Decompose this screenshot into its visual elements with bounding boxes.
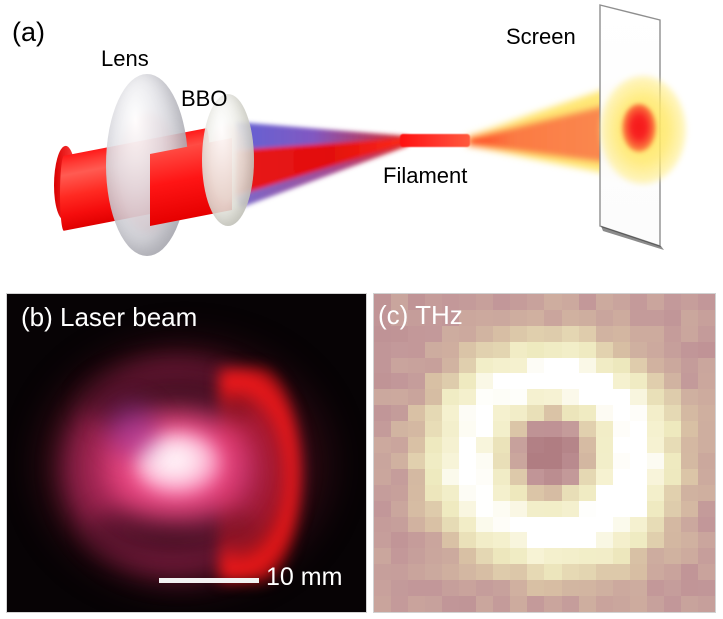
thz-pixel xyxy=(425,485,442,501)
thz-pixel xyxy=(562,564,579,580)
thz-pixel xyxy=(493,469,510,485)
thz-pixel xyxy=(613,469,630,485)
thz-pixel xyxy=(510,564,527,580)
thz-pixel xyxy=(664,453,681,469)
thz-pixel xyxy=(630,405,647,421)
thz-pixel xyxy=(493,485,510,501)
thz-pixel xyxy=(544,358,561,374)
thz-pixel xyxy=(544,453,561,469)
thz-pixel xyxy=(562,326,579,342)
thz-pixel xyxy=(630,532,647,548)
thz-pixel xyxy=(408,342,425,358)
thz-pixel xyxy=(562,358,579,374)
thz-pixel xyxy=(647,389,664,405)
thz-pixel xyxy=(391,532,408,548)
thz-pixel xyxy=(544,469,561,485)
thz-pixel xyxy=(425,421,442,437)
thz-pixel xyxy=(408,517,425,533)
thz-pixel xyxy=(698,485,715,501)
thz-pixel xyxy=(459,517,476,533)
thz-pixel xyxy=(510,517,527,533)
thz-pixel xyxy=(562,596,579,612)
thz-pixel xyxy=(459,437,476,453)
thz-pixel xyxy=(698,517,715,533)
thz-pixel xyxy=(408,373,425,389)
thz-pixel xyxy=(647,437,664,453)
thz-pixel xyxy=(596,517,613,533)
thz-pixel xyxy=(510,310,527,326)
thz-pixel xyxy=(493,389,510,405)
thz-pixel xyxy=(613,389,630,405)
thz-pixel xyxy=(510,437,527,453)
thz-pixel xyxy=(544,548,561,564)
thz-pixel xyxy=(579,421,596,437)
thz-pixel xyxy=(579,469,596,485)
thz-pixel xyxy=(493,437,510,453)
thz-pixel xyxy=(596,326,613,342)
thz-pixel xyxy=(647,453,664,469)
thz-pixel xyxy=(579,389,596,405)
thz-pixel xyxy=(527,453,544,469)
thz-pixel xyxy=(374,532,391,548)
thz-pixel xyxy=(391,373,408,389)
thz-pixel xyxy=(562,373,579,389)
bbo-crystal xyxy=(202,94,254,226)
thz-pixel xyxy=(664,517,681,533)
thz-pixel xyxy=(613,501,630,517)
thz-pixel xyxy=(647,564,664,580)
thz-pixel xyxy=(698,326,715,342)
thz-pixel xyxy=(527,596,544,612)
thz-pixel xyxy=(596,453,613,469)
thz-pixel xyxy=(374,342,391,358)
thz-pixel xyxy=(391,389,408,405)
thz-pixel xyxy=(476,580,493,596)
thz-pixel xyxy=(681,548,698,564)
thz-pixel xyxy=(510,532,527,548)
thz-pixel xyxy=(459,358,476,374)
thz-pixel xyxy=(408,485,425,501)
thz-pixel xyxy=(510,548,527,564)
thz-pixel xyxy=(647,405,664,421)
thz-pixel xyxy=(596,532,613,548)
thz-pixel xyxy=(681,517,698,533)
thz-pixel xyxy=(681,437,698,453)
thz-pixel xyxy=(596,373,613,389)
thz-pixel xyxy=(630,326,647,342)
thz-pixel xyxy=(459,596,476,612)
thz-pixel xyxy=(630,421,647,437)
thz-pixel xyxy=(527,294,544,310)
thz-pixel xyxy=(630,548,647,564)
thz-pixel xyxy=(698,437,715,453)
thz-pixel xyxy=(493,580,510,596)
thz-pixel xyxy=(596,564,613,580)
thz-pixel xyxy=(647,358,664,374)
thz-pixel xyxy=(630,437,647,453)
thz-pixel xyxy=(425,405,442,421)
thz-pixel xyxy=(579,373,596,389)
thz-pixel xyxy=(527,532,544,548)
thz-pixel xyxy=(527,326,544,342)
thz-pixel xyxy=(562,342,579,358)
thz-pixel xyxy=(493,501,510,517)
thz-pixel xyxy=(527,548,544,564)
thz-pixel xyxy=(579,405,596,421)
thz-pixel xyxy=(374,469,391,485)
thz-pixel xyxy=(698,469,715,485)
thz-pixel xyxy=(698,310,715,326)
thz-pixel xyxy=(459,532,476,548)
thz-pixel xyxy=(647,580,664,596)
thz-pixel xyxy=(459,453,476,469)
thz-pixel xyxy=(527,580,544,596)
thz-pixel xyxy=(476,485,493,501)
thz-pixel xyxy=(459,564,476,580)
thz-pixel xyxy=(408,453,425,469)
thz-pixel xyxy=(544,389,561,405)
thz-pixel xyxy=(698,580,715,596)
thz-pixel xyxy=(391,421,408,437)
thz-pixel xyxy=(425,389,442,405)
thz-pixel xyxy=(544,532,561,548)
thz-pixel xyxy=(698,405,715,421)
thz-pixel xyxy=(562,501,579,517)
thz-pixel xyxy=(374,453,391,469)
thz-pixel xyxy=(698,358,715,374)
thz-pixel xyxy=(698,564,715,580)
thz-pixel xyxy=(647,294,664,310)
thz-pixel xyxy=(510,453,527,469)
thz-pixel xyxy=(374,580,391,596)
thz-pixel xyxy=(442,580,459,596)
thz-pixel xyxy=(476,405,493,421)
thz-pixel xyxy=(596,405,613,421)
thz-pixel xyxy=(391,405,408,421)
thz-pixel xyxy=(630,389,647,405)
thz-pixel xyxy=(374,373,391,389)
thz-pixel xyxy=(647,326,664,342)
thz-pixel xyxy=(527,517,544,533)
thz-pixel xyxy=(613,326,630,342)
thz-pixel xyxy=(510,326,527,342)
thz-pixel xyxy=(442,564,459,580)
thz-pixel xyxy=(391,517,408,533)
thz-pixel xyxy=(408,389,425,405)
thz-pixel xyxy=(493,421,510,437)
thz-pixel xyxy=(425,548,442,564)
thz-pixel xyxy=(613,310,630,326)
thz-pixel xyxy=(630,294,647,310)
thz-pixel xyxy=(630,564,647,580)
thz-pixel xyxy=(510,342,527,358)
panel-b-laser-beam: (b) Laser beam 10 mm xyxy=(7,294,366,612)
thz-pixel xyxy=(647,469,664,485)
thz-pixel xyxy=(664,532,681,548)
scale-bar-label: 10 mm xyxy=(266,563,342,592)
thz-pixel xyxy=(596,485,613,501)
thz-pixel xyxy=(630,453,647,469)
thz-pixel xyxy=(510,389,527,405)
thz-pixel xyxy=(408,501,425,517)
thz-pixel xyxy=(613,294,630,310)
thz-pixel xyxy=(374,564,391,580)
thz-pixel xyxy=(596,389,613,405)
thz-pixel xyxy=(442,517,459,533)
thz-pixel xyxy=(681,326,698,342)
thz-pixel xyxy=(391,342,408,358)
filament-line xyxy=(400,134,470,147)
thz-pixel xyxy=(459,469,476,485)
thz-pixel xyxy=(579,532,596,548)
thz-pixel xyxy=(476,517,493,533)
thz-pixel xyxy=(493,326,510,342)
thz-pixel xyxy=(579,294,596,310)
thz-pixel xyxy=(613,342,630,358)
thz-pixel xyxy=(613,437,630,453)
thz-pixel xyxy=(425,437,442,453)
thz-pixel xyxy=(374,421,391,437)
thz-pixel xyxy=(562,421,579,437)
thz-pixel xyxy=(562,389,579,405)
thz-pixel xyxy=(510,580,527,596)
thz-pixel xyxy=(630,310,647,326)
thz-pixel xyxy=(510,373,527,389)
thz-pixel xyxy=(562,294,579,310)
thz-pixel xyxy=(510,405,527,421)
thz-pixel xyxy=(664,548,681,564)
thz-pixel xyxy=(613,580,630,596)
thz-pixel xyxy=(442,596,459,612)
thz-pixel xyxy=(493,373,510,389)
thz-pixel xyxy=(579,596,596,612)
thz-pixel xyxy=(664,596,681,612)
thz-pixel xyxy=(579,358,596,374)
thz-pixel xyxy=(391,580,408,596)
thz-pixel xyxy=(544,580,561,596)
panel-a-schematic: (a) Lens BBO Filament Screen xyxy=(0,0,723,288)
thz-pixel xyxy=(664,405,681,421)
thz-pixel xyxy=(408,358,425,374)
thz-pixel xyxy=(391,485,408,501)
thz-pixel xyxy=(527,389,544,405)
thz-pixel xyxy=(562,405,579,421)
thz-pixel xyxy=(579,501,596,517)
thz-pixel xyxy=(664,421,681,437)
thz-pixel xyxy=(579,564,596,580)
thz-pixel xyxy=(596,580,613,596)
thz-pixel xyxy=(408,469,425,485)
thz-pixel xyxy=(493,358,510,374)
thz-pixel xyxy=(374,405,391,421)
thz-pixel xyxy=(476,437,493,453)
thz-pixel xyxy=(476,310,493,326)
thz-pixel xyxy=(681,373,698,389)
thz-pixel xyxy=(391,358,408,374)
thz-pixel xyxy=(544,310,561,326)
thz-pixel xyxy=(459,373,476,389)
thz-pixel xyxy=(408,548,425,564)
thz-pixel xyxy=(527,437,544,453)
thz-pixel xyxy=(408,532,425,548)
thz-pixel xyxy=(579,310,596,326)
thz-pixel xyxy=(613,373,630,389)
thz-pixel xyxy=(527,373,544,389)
filament-label: Filament xyxy=(383,163,467,189)
thz-pixel-grid xyxy=(374,294,715,612)
thz-pixel xyxy=(544,517,561,533)
thz-pixel xyxy=(647,485,664,501)
thz-pixel xyxy=(476,532,493,548)
thz-pixel xyxy=(579,485,596,501)
thz-pixel xyxy=(613,405,630,421)
thz-pixel xyxy=(562,453,579,469)
thz-pixel xyxy=(493,517,510,533)
thz-pixel xyxy=(647,342,664,358)
thz-pixel xyxy=(698,453,715,469)
thz-pixel xyxy=(442,389,459,405)
thz-pixel xyxy=(510,469,527,485)
thz-pixel xyxy=(698,389,715,405)
thz-pixel xyxy=(613,532,630,548)
thz-pixel xyxy=(562,437,579,453)
lens-label: Lens xyxy=(101,46,149,72)
thz-pixel xyxy=(442,342,459,358)
thz-pixel xyxy=(681,389,698,405)
thz-pixel xyxy=(442,453,459,469)
thz-pixel xyxy=(596,421,613,437)
thz-pixel xyxy=(664,310,681,326)
thz-pixel xyxy=(681,564,698,580)
thz-pixel xyxy=(579,580,596,596)
thz-pixel xyxy=(698,373,715,389)
thz-pixel xyxy=(493,294,510,310)
thz-pixel xyxy=(544,373,561,389)
thz-pixel xyxy=(442,437,459,453)
thz-pixel xyxy=(681,485,698,501)
thz-pixel xyxy=(596,548,613,564)
thz-pixel xyxy=(698,421,715,437)
bbo-label: BBO xyxy=(181,86,227,112)
thz-pixel xyxy=(476,469,493,485)
thz-pixel xyxy=(476,373,493,389)
thz-pixel xyxy=(579,437,596,453)
thz-pixel xyxy=(664,358,681,374)
thz-pixel xyxy=(425,373,442,389)
thz-pixel xyxy=(630,501,647,517)
thz-pixel xyxy=(493,405,510,421)
thz-pixel xyxy=(442,358,459,374)
thz-pixel xyxy=(527,421,544,437)
thz-pixel xyxy=(442,501,459,517)
thz-pixel xyxy=(527,405,544,421)
thz-pixel xyxy=(647,596,664,612)
thz-pixel xyxy=(698,548,715,564)
thz-pixel xyxy=(459,389,476,405)
thz-pixel xyxy=(442,469,459,485)
thz-pixel xyxy=(527,485,544,501)
thz-pixel xyxy=(374,389,391,405)
thz-pixel xyxy=(510,294,527,310)
thz-pixel xyxy=(664,437,681,453)
thz-pixel xyxy=(391,453,408,469)
thz-pixel xyxy=(562,532,579,548)
thz-pixel xyxy=(425,532,442,548)
thz-pixel xyxy=(425,564,442,580)
thz-pixel xyxy=(681,405,698,421)
thz-pixel xyxy=(374,548,391,564)
thz-pixel xyxy=(664,580,681,596)
thz-pixel xyxy=(596,501,613,517)
thz-pixel xyxy=(374,485,391,501)
panel-c-label: (c) THz xyxy=(378,300,463,331)
scale-bar xyxy=(159,578,259,583)
thz-pixel xyxy=(613,548,630,564)
thz-pixel xyxy=(630,373,647,389)
thz-pixel xyxy=(562,580,579,596)
thz-pixel xyxy=(630,580,647,596)
thz-pixel xyxy=(476,453,493,469)
thz-pixel xyxy=(510,358,527,374)
thz-pixel xyxy=(408,421,425,437)
thz-pixel xyxy=(681,580,698,596)
thz-pixel xyxy=(647,421,664,437)
thz-pixel xyxy=(664,564,681,580)
thz-pixel xyxy=(476,389,493,405)
thz-pixel xyxy=(562,310,579,326)
thz-pixel xyxy=(408,580,425,596)
thz-pixel xyxy=(408,564,425,580)
thz-pixel xyxy=(664,373,681,389)
thz-pixel xyxy=(681,358,698,374)
thz-pixel xyxy=(544,294,561,310)
thz-pixel xyxy=(527,358,544,374)
thz-pixel xyxy=(562,517,579,533)
thz-pixel xyxy=(442,548,459,564)
thz-pixel xyxy=(459,421,476,437)
thz-pixel xyxy=(493,564,510,580)
thz-pixel xyxy=(374,501,391,517)
thz-pixel xyxy=(476,548,493,564)
thz-pixel xyxy=(476,501,493,517)
thz-pixel xyxy=(476,596,493,612)
thz-pixel xyxy=(425,501,442,517)
thz-pixel xyxy=(698,294,715,310)
thz-pixel xyxy=(527,564,544,580)
thz-pixel xyxy=(579,326,596,342)
thz-pixel xyxy=(613,485,630,501)
panel-a-label: (a) xyxy=(12,17,45,48)
thz-pixel xyxy=(527,469,544,485)
thz-pixel xyxy=(613,517,630,533)
thz-pixel xyxy=(442,405,459,421)
thz-pixel xyxy=(544,437,561,453)
thz-pixel xyxy=(425,342,442,358)
thz-pixel xyxy=(579,517,596,533)
thz-pixel xyxy=(476,342,493,358)
thz-pixel xyxy=(630,517,647,533)
thz-pixel xyxy=(596,358,613,374)
thz-pixel xyxy=(493,548,510,564)
thz-pixel xyxy=(510,421,527,437)
thz-pixel xyxy=(459,501,476,517)
thz-pixel xyxy=(544,485,561,501)
thz-pixel xyxy=(698,501,715,517)
thz-pixel xyxy=(510,501,527,517)
thz-pixel xyxy=(698,596,715,612)
thz-pixel xyxy=(664,501,681,517)
panel-c-thz: (c) THz xyxy=(374,294,715,612)
